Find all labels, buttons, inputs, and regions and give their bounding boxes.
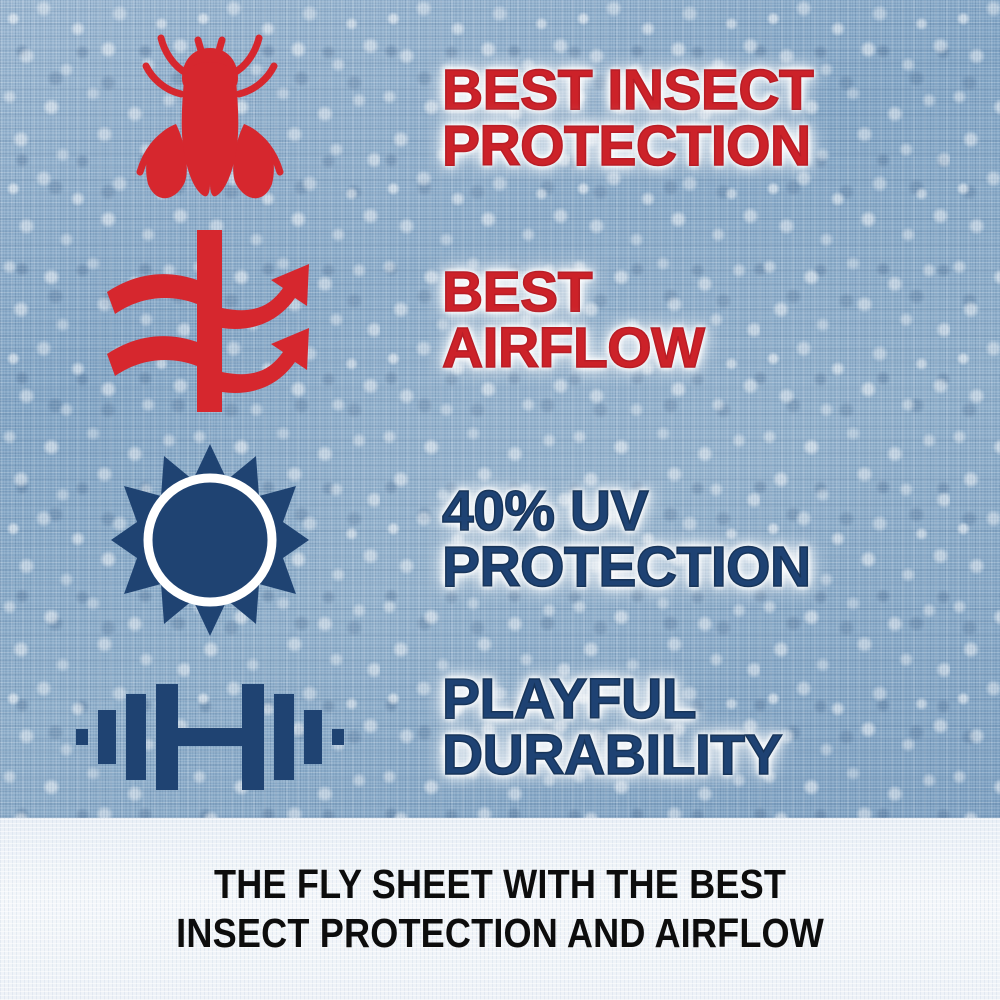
feature-label-airflow: BEST AIRFLOW [442, 265, 1000, 377]
feature-icon-cell [0, 228, 420, 414]
airflow-arrows-icon [101, 228, 319, 414]
caption-line-1: THE FLY SHEET WITH THE BEST [214, 860, 786, 909]
feature-icon-cell [0, 26, 420, 212]
feature-label-insect-protection: BEST INSECT PROTECTION [442, 63, 1000, 175]
feature-row-uv-protection: 40% UV PROTECTION [0, 440, 1000, 640]
feature-label-uv-protection: 40% UV PROTECTION [442, 484, 1000, 596]
feature-text-cell: BEST AIRFLOW [420, 265, 1000, 377]
feature-row-airflow: BEST AIRFLOW [0, 228, 1000, 414]
feature-text-cell: PLAYFUL DURABILITY [420, 672, 1000, 784]
feature-row-durability: PLAYFUL DURABILITY [0, 648, 1000, 808]
feature-label-durability: PLAYFUL DURABILITY [442, 672, 1000, 784]
feature-icon-cell [0, 442, 420, 638]
feature-text-cell: BEST INSECT PROTECTION [420, 63, 1000, 175]
feature-icon-cell [0, 656, 420, 800]
fly-icon [126, 26, 294, 212]
feature-row-insect-protection: BEST INSECT PROTECTION [0, 24, 1000, 214]
sun-icon [110, 442, 310, 638]
product-feature-poster: BEST INSECT PROTECTION BEST AIRFLOW [0, 0, 1000, 1000]
caption-line-2: INSECT PROTECTION AND AIRFLOW [176, 909, 824, 958]
feature-text-cell: 40% UV PROTECTION [420, 484, 1000, 596]
dumbbell-icon [76, 674, 344, 800]
caption-panel: THE FLY SHEET WITH THE BEST INSECT PROTE… [0, 818, 1000, 1000]
